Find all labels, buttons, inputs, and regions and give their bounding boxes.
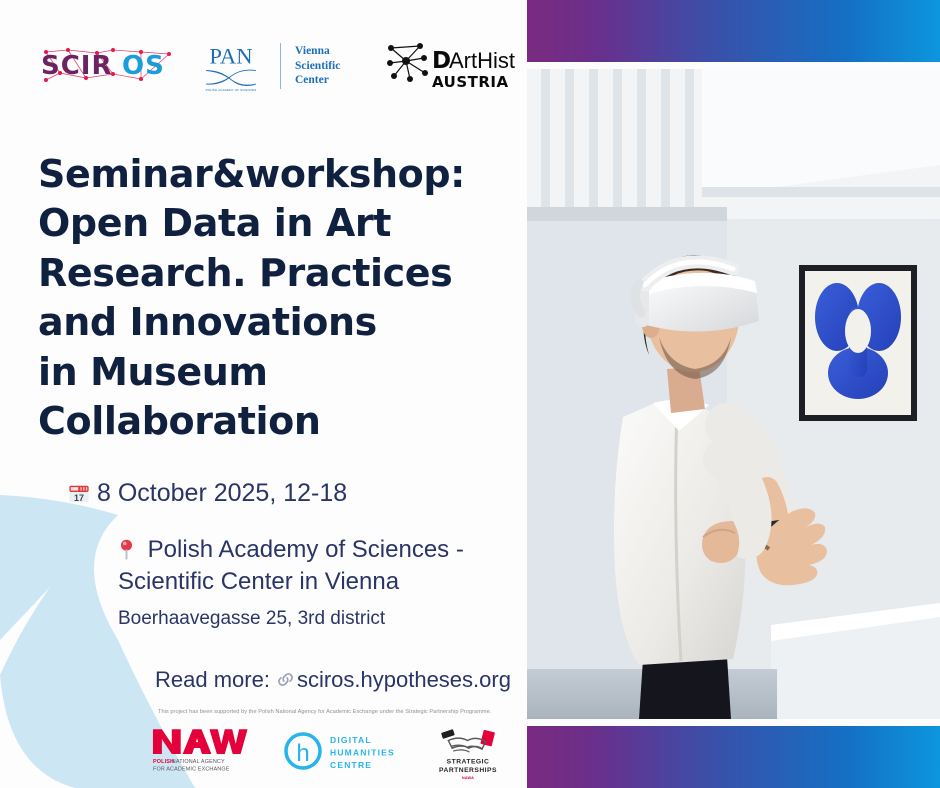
sciros-wordmark-part-one: SCIR xyxy=(41,51,113,81)
poster-right-column xyxy=(520,0,940,788)
event-date: 17 8 October 2025, 12-18 xyxy=(68,479,347,508)
headline-line-1: Seminar&workshop: xyxy=(38,150,508,199)
headline-line-5: in Museum xyxy=(38,348,508,397)
read-more-url[interactable]: sciros.hypotheses.org xyxy=(297,667,511,693)
read-more-label: Read more: xyxy=(155,667,270,693)
vsc-line-1: Vienna xyxy=(295,44,377,58)
nawa-tagline-rest: NATIONAL AGENCY xyxy=(172,759,225,765)
read-more-line: Read more: sciros.hypotheses.org xyxy=(155,667,511,693)
handshake-icon xyxy=(441,729,495,752)
link-icon xyxy=(276,667,295,693)
calendar-icon: 17 xyxy=(68,483,90,505)
headline-line-6: Collaboration xyxy=(38,397,508,446)
sp-line-1: STRATEGIC xyxy=(447,759,490,766)
nawa-logo: POLISH NATIONAL AGENCY FOR ACADEMIC EXCH… xyxy=(150,724,254,776)
dhc-line-3: CENTRE xyxy=(330,760,372,770)
darthist-austria-logo: D ArtHist AUSTRIA xyxy=(383,40,535,92)
darthist-subtitle: AUSTRIA xyxy=(432,73,509,91)
darthist-light-text: ArtHist xyxy=(449,48,515,73)
headline-line-2: Open Data in Art xyxy=(38,199,508,248)
event-address: Boerhaavegasse 25, 3rd district xyxy=(118,608,385,630)
gradient-band-bottom xyxy=(520,726,940,788)
nawa-tagline-line-2: FOR ACADEMIC EXCHANGE xyxy=(153,766,230,772)
event-poster: SCIR OS PAN POLISH ACADEMY OF SCIENCES xyxy=(0,0,940,788)
vr-headset-museum-photo xyxy=(527,69,940,719)
location-pin-icon xyxy=(118,536,142,563)
vsc-line-2: Scientific Center xyxy=(295,59,377,88)
dhc-line-2: HUMANITIES xyxy=(330,748,395,758)
pan-acronym: PAN xyxy=(209,44,252,69)
logo-divider xyxy=(280,43,281,89)
pan-subtitle: POLISH ACADEMY OF SCIENCES xyxy=(206,88,257,92)
nawa-tagline-highlight: POLISH xyxy=(153,759,174,765)
pan-logo: PAN POLISH ACADEMY OF SCIENCES xyxy=(196,40,266,92)
poster-left-column: SCIR OS PAN POLISH ACADEMY OF SCIENCES xyxy=(0,0,520,788)
event-venue-line-1: Polish Academy of Sciences - xyxy=(148,536,464,563)
partner-logo-strip: SCIR OS PAN POLISH ACADEMY OF SCIENCES xyxy=(38,36,516,96)
sp-line-2: PARTNERSHIPS xyxy=(439,767,497,774)
dhc-mark-letter: h xyxy=(296,740,309,767)
sciros-wordmark-part-two: OS xyxy=(122,51,165,81)
event-date-text: 8 October 2025, 12-18 xyxy=(97,479,347,508)
sciros-logo: SCIR OS xyxy=(38,43,178,89)
svg-text:17: 17 xyxy=(74,492,84,502)
dhc-line-1: DIGITAL xyxy=(330,735,372,745)
funding-note: This project has been supported by the P… xyxy=(158,709,518,716)
poster-headline: Seminar&workshop: Open Data in Art Resea… xyxy=(38,150,508,446)
gradient-band-top xyxy=(520,0,940,62)
strategic-partnerships-logo: STRATEGIC PARTNERSHIPS NAWA xyxy=(432,724,504,782)
headline-line-3: Research. Practices xyxy=(38,249,508,298)
headline-line-4: and Innovations xyxy=(38,298,508,347)
digital-humanities-centre-logo: h DIGITAL HUMANITIES CENTRE xyxy=(278,728,414,776)
event-venue-line-2: Scientific Center in Vienna xyxy=(118,568,399,595)
event-venue: Polish Academy of Sciences - Scientific … xyxy=(118,534,518,598)
funder-logo-row: POLISH NATIONAL AGENCY FOR ACADEMIC EXCH… xyxy=(150,724,520,784)
sp-line-3: NAWA xyxy=(462,776,474,780)
right-panel-gutter xyxy=(520,0,527,788)
vienna-scientific-center-label: Vienna Scientific Center xyxy=(295,44,377,87)
darthist-bold-letter: D xyxy=(432,48,451,74)
